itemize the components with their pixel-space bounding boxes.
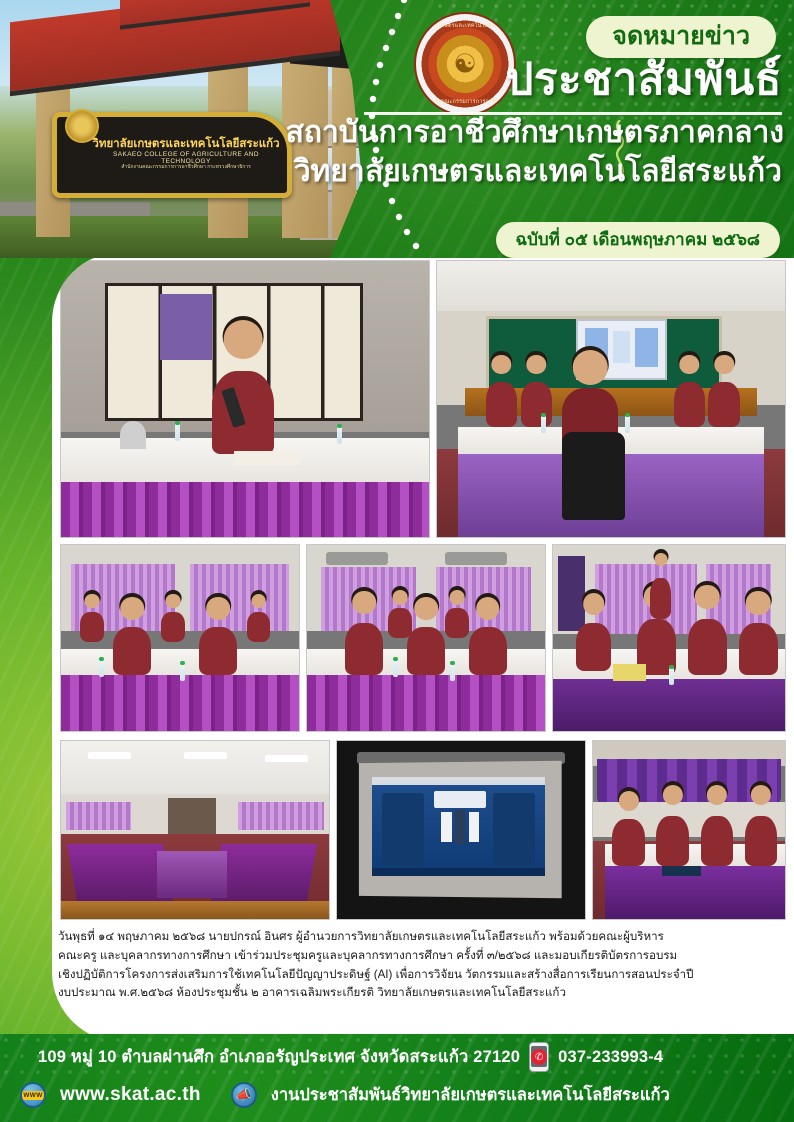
header: วิทยาลัยเกษตรและเทคโนโลยีสระแก้ว SAKAEO … (0, 0, 794, 258)
phone-icon: ✆ (529, 1042, 549, 1072)
caption-line: งบประมาณ พ.ศ.๒๕๖๘ ห้องประชุมชั้น ๒ อาคาร… (58, 984, 778, 1003)
photo-4 (306, 544, 546, 732)
caption-line: คณะครู และบุคลากรทางการศึกษา เข้าร่วมประ… (58, 947, 778, 966)
photo-5 (552, 544, 786, 732)
footer-phone[interactable]: 037-233993-4 (558, 1048, 663, 1067)
seal-ring: วิทยาลัยเกษตรและเทคโนโลยีสระแก้ว ☯ สำนัก… (414, 12, 516, 116)
seal-text-top: วิทยาลัยเกษตรและเทคโนโลยีสระแก้ว (416, 22, 514, 30)
newsletter-badge: จดหมายข่าว (586, 16, 776, 58)
photo-6 (60, 740, 330, 920)
college-name: วิทยาลัยเกษตรและเทคโนโลยีสระแก้ว (294, 155, 782, 189)
gate-signboard: วิทยาลัยเกษตรและเทคโนโลยีสระแก้ว SAKAEO … (52, 112, 292, 198)
newsletter-page: วิทยาลัยเกษตรและเทคโนโลยีสระแก้ว SAKAEO … (0, 0, 794, 1122)
page-title: ประชาสัมพันธ์ (505, 56, 782, 104)
footer-address: 109 หมู่ 10 ตำบลผ่านศึก อำเภออรัญประเทศ … (38, 1044, 520, 1070)
photo-3 (60, 544, 300, 732)
footer-web-row: WWW www.skat.ac.th 📣 งานประชาสัมพันธ์วิท… (20, 1082, 670, 1108)
photo-2 (436, 260, 786, 538)
footer-contact-row: 109 หมู่ 10 ตำบลผ่านศึก อำเภออรัญประเทศ … (38, 1042, 663, 1072)
www-label: WWW (21, 1091, 44, 1100)
footer-website[interactable]: www.skat.ac.th (60, 1084, 201, 1106)
photo-8 (592, 740, 786, 920)
globe-www-icon: WWW (20, 1082, 46, 1108)
institute-name: สถาบันการอาชีวศึกษาเกษตรภาคกลาง (286, 116, 784, 150)
title-underline (364, 112, 782, 115)
footer-pr-line: งานประชาสัมพันธ์วิทยาลัยเกษตรและเทคโนโลย… (271, 1082, 670, 1108)
footer: 109 หมู่ 10 ตำบลผ่านศึก อำเภออรัญประเทศ … (0, 1034, 794, 1122)
photo-1 (60, 260, 430, 538)
gate-sign-subtitle: สำนักงานคณะกรรมการการอาชีวศึกษา กระทรวงศ… (91, 163, 281, 171)
megaphone-icon: 📣 (231, 1082, 257, 1108)
photo-grid (52, 252, 794, 1042)
seal-text-bottom: สำนักงานคณะกรรมการการอาชีวศึกษา (416, 98, 514, 106)
content-sheet (52, 252, 794, 1042)
phone-glyph: ✆ (531, 1049, 547, 1065)
caption-line: เชิงปฏิบัติการโครงการส่งเสริมการใช้เทคโน… (58, 966, 778, 985)
photo-7 (336, 740, 586, 920)
caption-line: วันพุธที่ ๑๔ พฤษภาคม ๒๕๖๘ นายปกรณ์ อินศร… (58, 928, 778, 947)
issue-badge: ฉบับที่ ๐๕ เดือนพฤษภาคม ๒๕๖๘ (496, 222, 780, 258)
garuda-icon: ☯ (453, 49, 476, 80)
article-caption: วันพุธที่ ๑๔ พฤษภาคม ๒๕๖๘ นายปกรณ์ อินศร… (58, 928, 778, 1003)
